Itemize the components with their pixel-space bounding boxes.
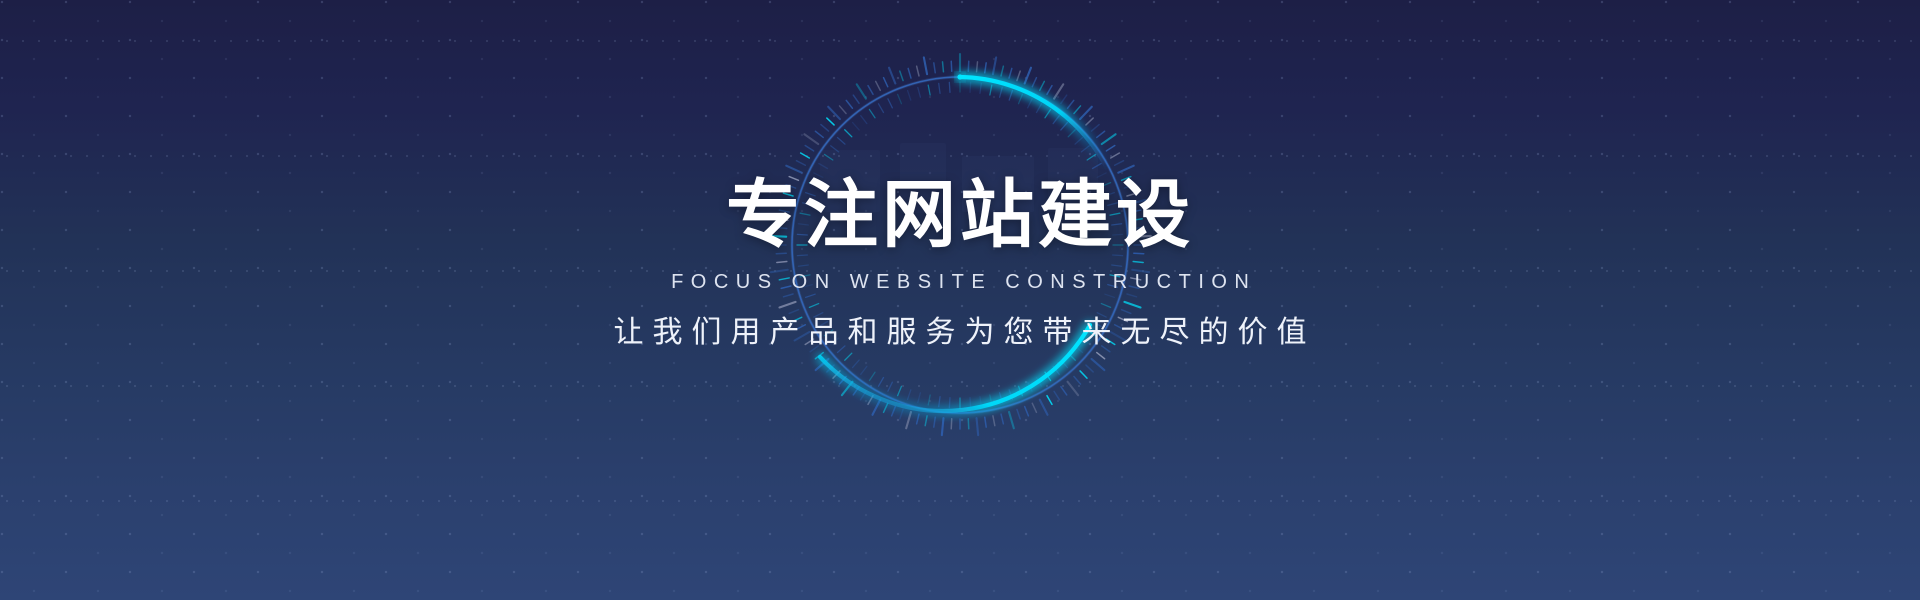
arc-start-cap bbox=[957, 74, 962, 79]
hero-banner: 专注网站建设 FOCUS ON WEBSITE CONSTRUCTION 让我们… bbox=[0, 0, 1920, 600]
banner-content: 专注网站建设 FOCUS ON WEBSITE CONSTRUCTION 让我们… bbox=[0, 178, 1920, 348]
page-title: 专注网站建设 bbox=[0, 178, 1920, 252]
banner-subtitle-en: FOCUS ON WEBSITE CONSTRUCTION bbox=[0, 272, 1920, 292]
banner-tagline-zh: 让我们用产品和服务为您带来无尽的价值 bbox=[0, 318, 1920, 348]
